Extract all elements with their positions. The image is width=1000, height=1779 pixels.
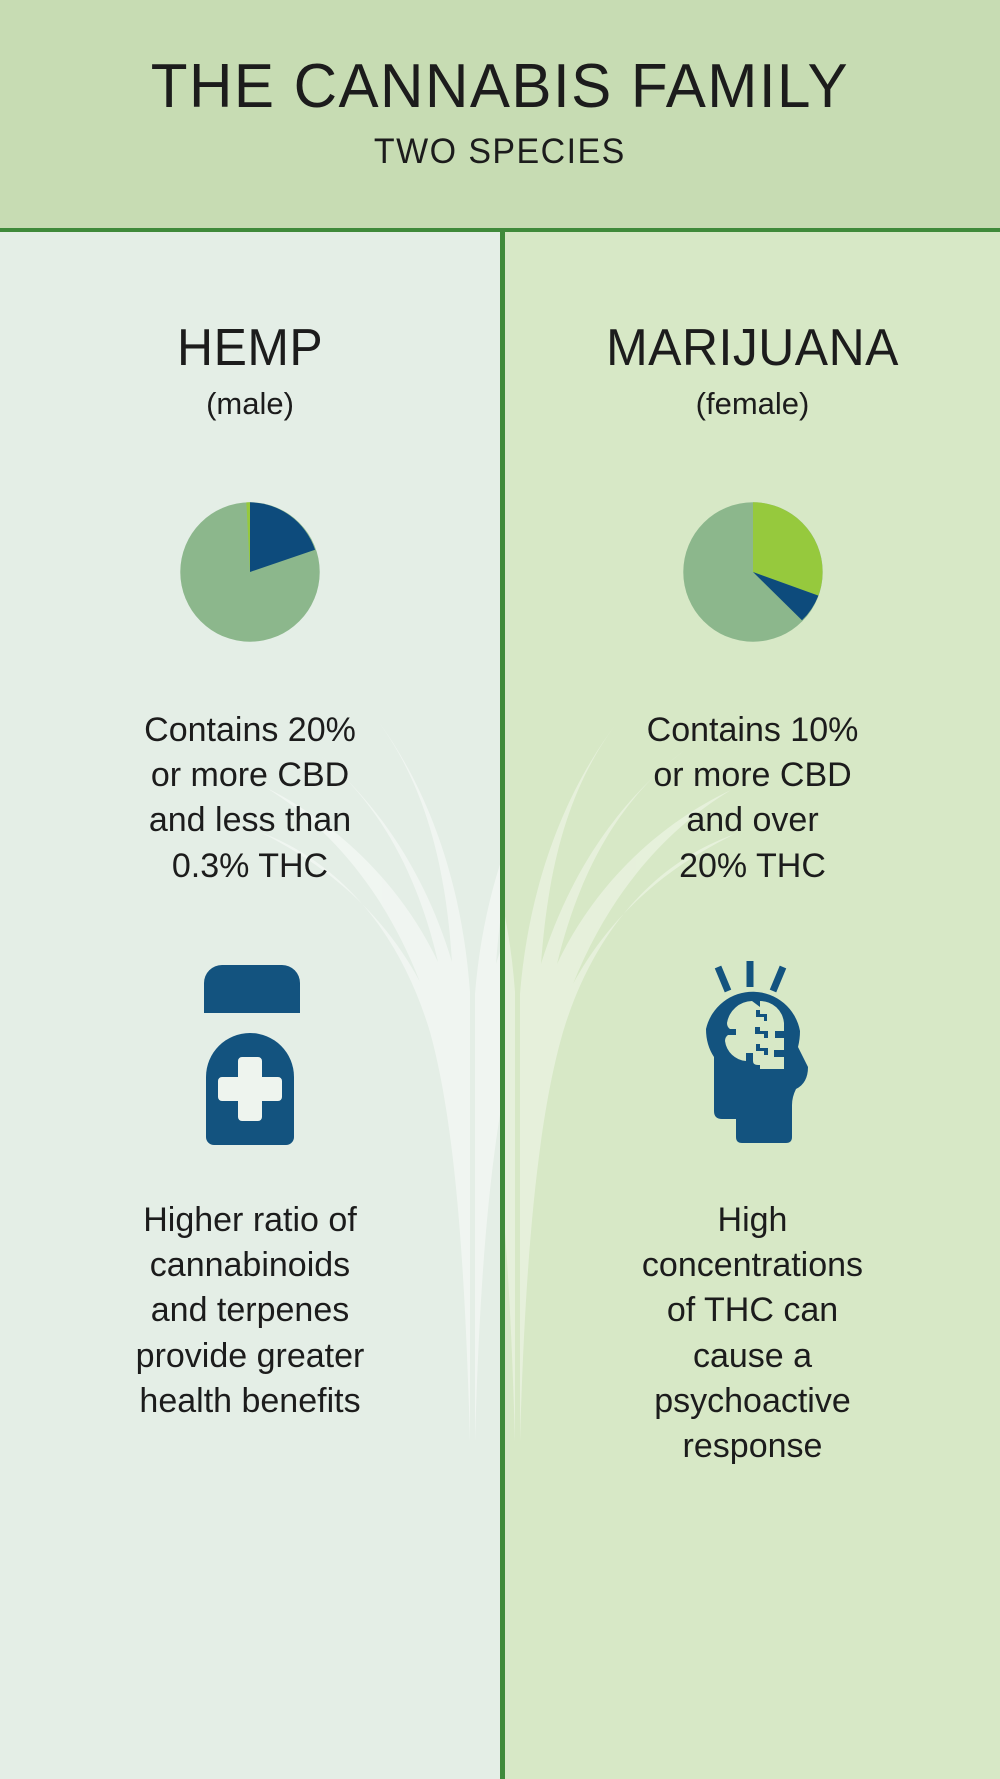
fact-line: 0.3% THC: [144, 844, 356, 889]
column-subtitle-hemp: (male): [206, 388, 294, 419]
column-marijuana: MARIJUANA (female) Contains 10% or more …: [500, 232, 1000, 1779]
fact-line: response: [642, 1424, 863, 1469]
header-banner: THE CANNABIS FAMILY TWO SPECIES: [0, 0, 1000, 232]
fact-line: Contains 10%: [647, 708, 859, 753]
column-hemp: HEMP (male) Contains 20% or more C: [0, 232, 500, 1779]
comparison-body: HEMP (male) Contains 20% or more C: [0, 232, 1000, 1779]
fact-text-marijuana-top: Contains 10% or more CBD and over 20% TH…: [647, 708, 859, 889]
fact-line: and less than: [144, 798, 356, 843]
brain-head-icon-svg: [688, 961, 818, 1147]
spark-line: [718, 967, 728, 991]
fact-line: or more CBD: [144, 753, 356, 798]
fact-line: High: [642, 1198, 863, 1243]
page-title: THE CANNABIS FAMILY: [151, 56, 849, 118]
medicine-bottle-icon: [198, 961, 302, 1152]
fact-line: cause a: [642, 1334, 863, 1379]
pie-chart-hemp: [167, 489, 333, 660]
column-title-marijuana: MARIJUANA: [606, 322, 899, 374]
infographic-page: THE CANNABIS FAMILY TWO SPECIES HEMP (ma…: [0, 0, 1000, 1779]
fact-line: 20% THC: [647, 844, 859, 889]
head-silhouette: [706, 992, 808, 1143]
fact-line: health benefits: [136, 1379, 365, 1424]
fact-line: Contains 20%: [144, 708, 356, 753]
medicine-bottle-icon-svg: [198, 961, 302, 1147]
column-title-hemp: HEMP: [177, 322, 323, 374]
fact-line: of THC can: [642, 1288, 863, 1333]
page-subtitle: TWO SPECIES: [374, 132, 626, 172]
fact-line: and terpenes: [136, 1288, 365, 1333]
column-subtitle-marijuana: (female): [696, 388, 810, 419]
fact-text-hemp-bottom: Higher ratio of cannabinoids and terpene…: [136, 1198, 365, 1424]
fact-line: psychoactive: [642, 1379, 863, 1424]
fact-line: cannabinoids: [136, 1243, 365, 1288]
spark-line: [773, 967, 783, 991]
fact-text-marijuana-bottom: High concentrations of THC can cause a p…: [642, 1198, 863, 1469]
pie-chart-marijuana-svg: [670, 489, 836, 655]
pie-chart-marijuana: [670, 489, 836, 660]
fact-line: provide greater: [136, 1334, 365, 1379]
fact-line: and over: [647, 798, 859, 843]
brain-head-icon: [688, 961, 818, 1152]
pie-chart-hemp-svg: [167, 489, 333, 655]
fact-line: concentrations: [642, 1243, 863, 1288]
fact-text-hemp-top: Contains 20% or more CBD and less than 0…: [144, 708, 356, 889]
fact-line: or more CBD: [647, 753, 859, 798]
fact-line: Higher ratio of: [136, 1198, 365, 1243]
